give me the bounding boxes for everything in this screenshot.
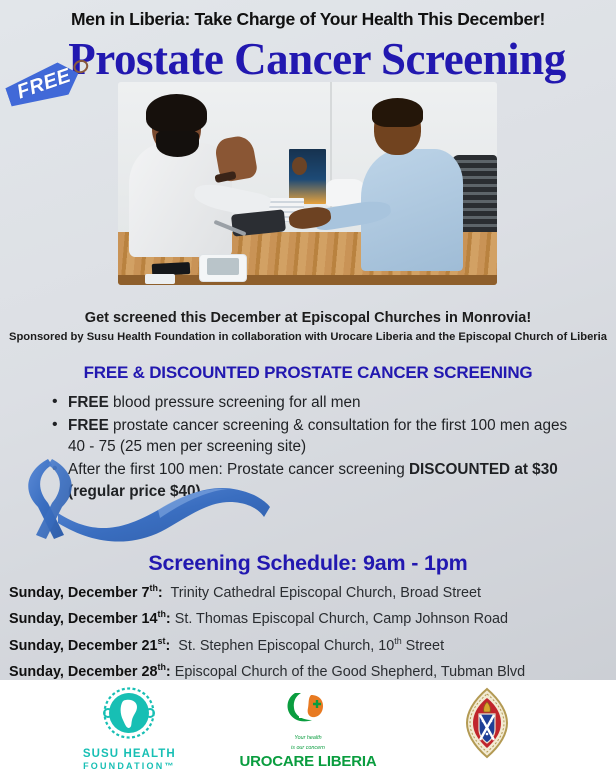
schedule-colon: : bbox=[166, 611, 171, 627]
bullet-lead: FREE bbox=[68, 417, 109, 434]
title-row: FREE Prostate Cancer Screening bbox=[0, 30, 616, 88]
list-item: After the first 100 men: Prostate cancer… bbox=[52, 459, 572, 502]
schedule-date: Sunday, December 21 bbox=[9, 637, 158, 653]
urocare-name: UROCARE LIBERIA bbox=[228, 753, 388, 770]
photo-desk-edge bbox=[118, 275, 497, 285]
bullet-text: blood pressure screening for all men bbox=[109, 394, 361, 411]
urocare-hand-kidney-icon bbox=[281, 687, 335, 727]
list-item: FREE prostate cancer screening & consult… bbox=[52, 415, 572, 458]
schedule-street-ordinal: th bbox=[394, 636, 401, 646]
susu-subname: FOUNDATION™ bbox=[49, 761, 209, 770]
susu-africa-circle-icon bbox=[101, 687, 157, 741]
photo-poster bbox=[289, 149, 327, 204]
footer-logo-bar: SUSU HEALTH FOUNDATION™ Your health is o… bbox=[0, 680, 616, 770]
header-tagline: Men in Liberia: Take Charge of Your Heal… bbox=[0, 0, 616, 30]
schedule-date-ordinal: th bbox=[150, 583, 158, 593]
schedule-colon: : bbox=[166, 664, 171, 680]
schedule-location: St. Stephen Episcopal Church, 10 bbox=[178, 637, 394, 653]
flyer-canvas: Men in Liberia: Take Charge of Your Heal… bbox=[0, 0, 616, 770]
susu-name: SUSU HEALTH bbox=[49, 748, 209, 760]
table-row: Sunday, December 14th: St. Thomas Episco… bbox=[9, 604, 609, 630]
photo-bp-monitor-screen bbox=[207, 258, 239, 275]
bullet-text: After the first 100 men: Prostate cancer… bbox=[68, 461, 409, 478]
photo-doctor-hair bbox=[146, 94, 207, 133]
consultation-photo bbox=[118, 82, 497, 285]
bullet-text: prostate cancer screening & consultation… bbox=[68, 417, 567, 456]
photo-small-box bbox=[145, 274, 175, 284]
schedule-location-suffix: Street bbox=[402, 637, 444, 653]
schedule-location: Trinity Cathedral Episcopal Church, Broa… bbox=[170, 585, 481, 601]
schedule-heading: Screening Schedule: 9am - 1pm bbox=[0, 551, 616, 576]
urocare-tagline-1: Your health bbox=[228, 734, 388, 742]
table-row: Sunday, December 21st: St. Stephen Episc… bbox=[9, 631, 609, 657]
sponsor-line: Sponsored by Susu Health Foundation in c… bbox=[0, 331, 616, 343]
episcopal-crest-icon bbox=[461, 687, 513, 759]
list-item: FREE blood pressure screening for all me… bbox=[52, 392, 572, 414]
schedule-list: Sunday, December 7th: Trinity Cathedral … bbox=[9, 578, 609, 683]
offer-bullet-list: FREE blood pressure screening for all me… bbox=[0, 392, 616, 503]
bullet-lead: FREE bbox=[68, 394, 109, 411]
logo-urocare-liberia: Your health is our concern UROCARE LIBER… bbox=[228, 687, 388, 770]
schedule-date-ordinal: th bbox=[158, 609, 166, 619]
schedule-date: Sunday, December 28 bbox=[9, 664, 158, 680]
schedule-colon: : bbox=[165, 637, 170, 653]
schedule-location: St. Thomas Episcopal Church, Camp Johnso… bbox=[175, 611, 508, 627]
photo-illustration bbox=[118, 82, 497, 285]
schedule-date-ordinal: th bbox=[158, 662, 166, 672]
page-title: Prostate Cancer Screening bbox=[0, 30, 616, 88]
schedule-date: Sunday, December 7 bbox=[9, 585, 150, 601]
photo-patient-hair bbox=[372, 98, 423, 126]
offer-section-heading: FREE & DISCOUNTED PROSTATE CANCER SCREEN… bbox=[0, 363, 616, 383]
logo-susu-health-foundation: SUSU HEALTH FOUNDATION™ bbox=[49, 687, 209, 770]
logo-episcopal-church-crest bbox=[407, 687, 567, 764]
intro-subhead: Get screened this December at Episcopal … bbox=[0, 310, 616, 326]
schedule-date: Sunday, December 14 bbox=[9, 611, 158, 627]
urocare-tagline-2: is our concern bbox=[228, 744, 388, 752]
table-row: Sunday, December 7th: Trinity Cathedral … bbox=[9, 578, 609, 604]
schedule-location: Episcopal Church of the Good Shepherd, T… bbox=[175, 664, 525, 680]
schedule-colon: : bbox=[158, 585, 163, 601]
